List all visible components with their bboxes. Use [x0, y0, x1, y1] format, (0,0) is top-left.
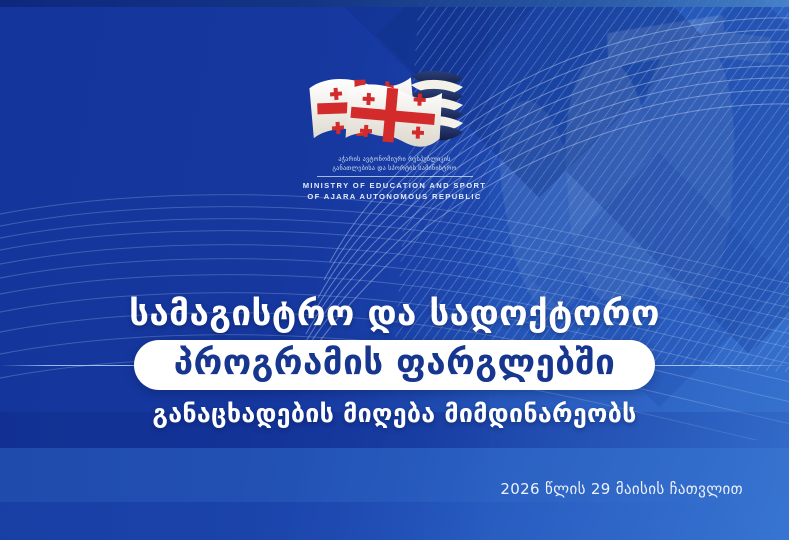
logo-divider — [317, 176, 473, 177]
ministry-logo: აჭარის ავტონომიური რესპუბლიკის განათლები… — [0, 62, 789, 202]
headline-line-2: პროგრამის ფარგლებში — [174, 345, 616, 381]
ministry-name-en-line1: MINISTRY OF EDUCATION AND SPORT — [303, 180, 487, 191]
ministry-name-ka-line1: აჭარის ავტონომიური რესპუბლიკის — [332, 155, 456, 164]
headline-block: სამაგისტრო და სადოქტორო პროგრამის ფარგლე… — [0, 296, 789, 428]
headline-line-1: სამაგისტრო და სადოქტორო — [0, 296, 789, 333]
background-band-bottom — [0, 502, 789, 540]
ministry-name-ka-line2: განათლებისა და სპორტის სამინისტრო — [332, 164, 456, 173]
georgia-ajara-flags-icon — [307, 62, 483, 150]
headline-pill: პროგრამის ფარგლებში — [134, 340, 656, 389]
ministry-name-en-line2: OF AJARA AUTONOMOUS REPUBLIC — [303, 191, 487, 202]
ministry-name-ka: აჭარის ავტონომიური რესპუბლიკის განათლები… — [332, 155, 456, 174]
top-edge-strip — [0, 0, 789, 7]
poster-canvas: აჭარის ავტონომიური რესპუბლიკის განათლები… — [0, 0, 789, 540]
headline-line-3: განაცხადების მიღება მიმდინარეობს — [0, 399, 789, 428]
headline-pill-row: პროგრამის ფარგლებში — [0, 338, 789, 392]
deadline-text: 2026 წლის 29 მაისის ჩათვლით — [500, 480, 743, 498]
ministry-name-en: MINISTRY OF EDUCATION AND SPORT OF AJARA… — [303, 180, 487, 202]
